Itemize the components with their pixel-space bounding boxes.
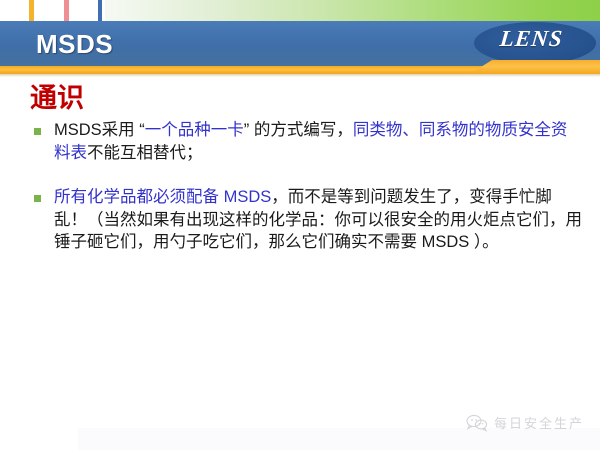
text-run: ” 的方式编写，	[244, 121, 353, 139]
top-decor-band	[0, 0, 600, 21]
lens-logo-text: LENS	[499, 26, 565, 52]
text-run: 不能互相替代；	[87, 144, 203, 162]
text-run: 一个品种一卡	[145, 121, 244, 139]
wechat-icon	[466, 414, 488, 432]
text-run: MSDS采用 “	[54, 121, 145, 139]
bullet-list: MSDS采用 “一个品种一卡” 的方式编写，同类物、同系物的物质安全资料表不能互…	[30, 119, 582, 276]
section-heading: 通识	[30, 81, 84, 115]
list-item: 所有化学品都必须配备 MSDS，而不是等到问题发生了，变得手忙脚乱！（当然如果有…	[30, 186, 582, 254]
orange-divider-band-notch	[470, 60, 600, 74]
top-tick-pink	[64, 0, 69, 21]
slide-body: 通识 MSDS采用 “一个品种一卡” 的方式编写，同类物、同系物的物质安全资料表…	[0, 77, 600, 450]
list-item: MSDS采用 “一个品种一卡” 的方式编写，同类物、同系物的物质安全资料表不能互…	[30, 119, 582, 164]
square-bullet-icon	[34, 128, 41, 135]
text-run: 所有化学品都必须配备 MSDS	[54, 188, 271, 206]
top-band-white-gap	[0, 0, 105, 21]
slide-canvas: MSDS LENS 通识 MSDS采用 “一个品种一卡” 的方式编写，同类物、同…	[0, 0, 600, 450]
watermark-text: 每日安全生产	[494, 413, 584, 432]
top-tick-blue	[98, 0, 102, 21]
top-tick-yellow	[29, 0, 34, 21]
page-title: MSDS	[36, 26, 113, 62]
bullet-text: MSDS采用 “一个品种一卡” 的方式编写，同类物、同系物的物质安全资料表不能互…	[54, 119, 582, 164]
lens-logo: LENS	[474, 22, 596, 64]
watermark: 每日安全生产	[466, 413, 584, 432]
square-bullet-icon	[34, 195, 41, 202]
bullet-text: 所有化学品都必须配备 MSDS，而不是等到问题发生了，变得手忙脚乱！（当然如果有…	[54, 186, 582, 254]
